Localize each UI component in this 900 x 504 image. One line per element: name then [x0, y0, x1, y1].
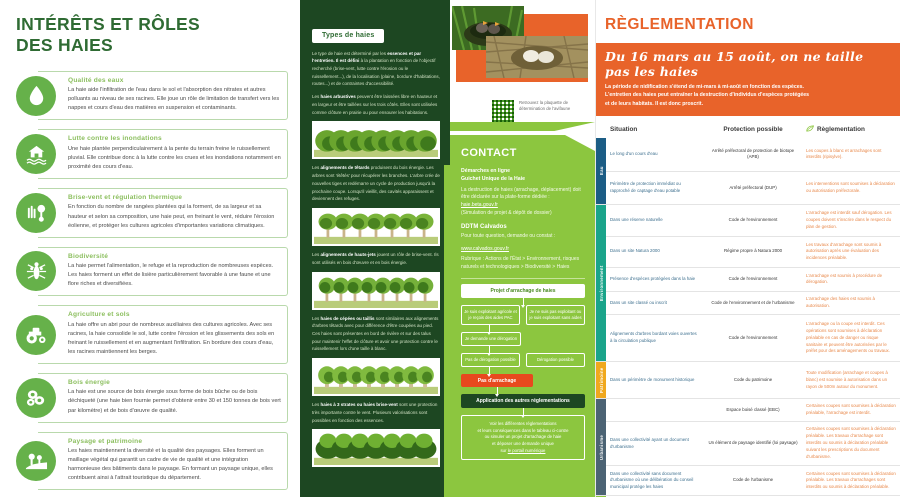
flow-branch-right: Je ne suis pas exploitant ou je suis exp…: [526, 305, 585, 325]
cell-protection: Code de l'environnement et de l'urbanism…: [704, 291, 802, 315]
category-label: Eau: [599, 141, 610, 201]
benefit-heading: Lutte contre les inondations: [68, 135, 281, 142]
benefit-card-7: Paysage et patrimoineLes haies maintienn…: [38, 432, 288, 491]
hedge-types-list: Les haies arbustives peuvent être laissé…: [312, 93, 440, 467]
table-row: Périmètre de protection immédiat ou rapp…: [595, 171, 900, 205]
flow-arrow-4: [489, 367, 490, 374]
banner-subtext: La période de nidification s'étend de mi…: [605, 83, 890, 108]
cell-reglementation: Les coupes à blanc et arrachages sont in…: [802, 138, 900, 171]
cell-situation: Dans un périmètre de monument historique: [606, 362, 704, 399]
hedge-type-text-4: Les haies de cépées ou taillis sont simi…: [312, 315, 440, 354]
cell-protection: Code de l'environnement: [704, 205, 802, 236]
types-de-haies-badge: Types de haies: [312, 29, 384, 43]
footer-bar: [0, 497, 900, 504]
benefit-card-1: Qualité des eauxLa haie aide l'infiltrat…: [38, 71, 288, 121]
cell-protection: Code de l'urbanisme: [704, 466, 802, 496]
benefit-heading: Agriculture et sols: [68, 311, 281, 318]
hedge-type-text-3: Les alignements de hauts-jets jouent un …: [312, 251, 440, 266]
benefit-card-body: Agriculture et solsLa haie offre un abri…: [38, 305, 288, 364]
benefit-heading: Brise-vent et régulation thermique: [68, 194, 281, 201]
benefit-card-body: Qualité des eauxLa haie aide l'infiltrat…: [38, 71, 288, 121]
table-row: UrbanismeEspace boisé classé (EBC)Certai…: [595, 399, 900, 421]
table-row: Dans une collectivité ayant un document …: [595, 421, 900, 466]
ddtm-link[interactable]: www.calvados.gouv.fr: [461, 246, 509, 252]
benefit-text: Les haies maintiennent la diversité et l…: [68, 447, 281, 483]
right-section: Retrouvez la plaquette de détermination …: [450, 0, 900, 504]
ddtm-path: Rubrique : Actions de l'État > Environne…: [461, 256, 585, 272]
infographic-page: INTÉRÊTS ET RÔLES DES HAIES Qualité des …: [0, 0, 900, 504]
contact-online-label-2: Guichet Unique de la Haie: [461, 176, 585, 184]
cell-situation: Dans une collectivité sans document d'ur…: [606, 466, 704, 496]
category-label: Environnement: [599, 208, 610, 358]
th-protection: Protection possible: [704, 121, 802, 138]
hedge-shrub-photo: [312, 121, 440, 159]
biodiversity-insect-icon: [16, 251, 56, 291]
contact-column: Retrouvez la plaquette de détermination …: [450, 0, 595, 504]
landscape-heritage-icon: [16, 441, 56, 481]
flow-stop-box: Pas d'arrachage: [461, 374, 533, 387]
cell-reglementation: Les interventions sont soumises à déclar…: [802, 171, 900, 205]
eggs-in-nest-illustration: [486, 36, 588, 78]
cell-protection: Espace boisé classé (EBC): [704, 399, 802, 421]
cell-reglementation: L'arrachage est soumis à procédure de dé…: [802, 268, 900, 292]
ddtm-sub: Pour toute question, demande ou constat …: [461, 233, 585, 241]
cell-situation: Alignements d'arbres bordant voies ouver…: [606, 315, 704, 362]
table-row: EnvironnementDans une réserve naturelleC…: [595, 205, 900, 236]
category-band-urbanisme: Urbanisme: [595, 399, 606, 496]
cell-protection: Code du patrimoine: [704, 362, 802, 399]
category-band-eau: Eau: [595, 138, 606, 205]
regulation-table-body: EauLe long d'un cours d'eauArrêté préfec…: [595, 138, 900, 504]
leaf-icon: [806, 125, 815, 132]
benefit-card-body: Paysage et patrimoineLes haies maintienn…: [38, 432, 288, 491]
table-row: Alignements d'arbres bordant voies ouver…: [595, 315, 900, 362]
contact-divider: [461, 278, 585, 279]
qr-code-icon[interactable]: [492, 100, 514, 122]
green-chevron-divider: [450, 122, 595, 135]
th-situation: Situation: [606, 121, 704, 138]
water-drop-icon: [16, 76, 56, 116]
cell-situation: Dans une réserve naturelle: [606, 205, 704, 236]
flow-arrow-3: [489, 346, 490, 353]
table-row: EauLe long d'un cours d'eauArrêté préfec…: [595, 138, 900, 171]
table-row: Dans une collectivité sans document d'ur…: [595, 466, 900, 496]
flood-house-icon: [16, 134, 56, 174]
nest-with-eggs-photo: [486, 36, 588, 78]
category-label: Patrimoine: [599, 365, 610, 395]
qr-code-row: Retrouvez la plaquette de détermination …: [450, 95, 595, 122]
table-row: Dans un site classé ou inscritCode de l'…: [595, 291, 900, 315]
regulation-column: RÈGLEMENTATION Du 16 mars au 15 août, on…: [595, 0, 900, 504]
flow-start: Projet d'arrachage de haies: [461, 284, 585, 298]
windbreak-thermometer-icon: [16, 193, 56, 233]
cell-reglementation: L'arrachage des haies est soumis à autor…: [802, 291, 900, 315]
benefit-card-5: Agriculture et solsLa haie offre un abri…: [38, 305, 288, 364]
nesting-period-banner: Du 16 mars au 15 août, on ne taille pas …: [595, 43, 900, 116]
hedge-type-text-1: Les haies arbustives peuvent être laissé…: [312, 93, 440, 116]
contact-online-text: La destruction de haies (arrachage, dépl…: [461, 187, 585, 219]
ddtm-title: DDTM Calvados: [461, 223, 585, 232]
flow-step2: Je demande une dérogation: [461, 332, 521, 346]
guichet-link[interactable]: haie.beta.gouv.fr: [461, 202, 498, 208]
benefit-text: La haie est une source de bois énergie s…: [68, 388, 281, 415]
contact-title: CONTACT: [461, 147, 585, 159]
benefit-card-body: Brise-vent et régulation thermiqueEn fon…: [38, 188, 288, 238]
left-panel-interets-roles: INTÉRÊTS ET RÔLES DES HAIES Qualité des …: [0, 0, 300, 504]
cell-situation: Périmètre de protection immédiat ou rapp…: [606, 171, 704, 205]
flow-arrow-5: [497, 387, 498, 394]
benefit-card-body: Lutte contre les inondationsUne haie pla…: [38, 129, 288, 179]
portail-numerique-link[interactable]: le portail numérique: [508, 448, 546, 453]
benefit-text: En fonction du nombre de rangées plantée…: [68, 203, 281, 230]
middle-panel-types-de-haies: Types de haies Le type de haie est déter…: [300, 0, 450, 504]
benefit-text: La haie aide l'infiltration de l'eau dan…: [68, 86, 281, 113]
cell-reglementation: L'arrachage ou la coupe est interdit. Ce…: [802, 315, 900, 362]
benefit-card-3: Brise-vent et régulation thermiqueEn fon…: [38, 188, 288, 238]
flow-result-row: Pas de dérogation possible Dérogation po…: [461, 353, 585, 367]
table-row: Dans un site Natura 2000Régime propre à …: [595, 236, 900, 267]
cell-reglementation: Certaines coupes sont soumises à déclara…: [802, 466, 900, 496]
qr-code-caption: Retrouvez la plaquette de détermination …: [519, 100, 595, 113]
hedge-type-text-5: Les haies à 3 strates ou haies brise-ven…: [312, 401, 440, 424]
benefit-heading: Bois énergie: [68, 379, 281, 386]
cell-reglementation: L'arrachage est interdit sauf dérogation…: [802, 205, 900, 236]
table-header-row: Situation Protection possible Règlementa…: [595, 121, 900, 138]
benefit-heading: Paysage et patrimoine: [68, 438, 281, 445]
cell-situation: Dans un site classé ou inscrit: [606, 291, 704, 315]
benefit-card-6: Bois énergieLa haie est une source de bo…: [38, 373, 288, 423]
category-band-environnement: Environnement: [595, 205, 606, 362]
benefit-card-body: BiodiversitéLa haie permet l'alimentatio…: [38, 247, 288, 297]
flow-footer-box: Voir les différentes réglementations et …: [461, 415, 585, 460]
cell-protection: Un élément de paysage identifié (loi pay…: [704, 421, 802, 466]
nest-photos-block: [450, 0, 595, 95]
benefit-text: Une haie plantée perpendiculairement à l…: [68, 145, 281, 172]
benefit-card-4: BiodiversitéLa haie permet l'alimentatio…: [38, 247, 288, 297]
coppice-hedge-photo: [312, 358, 440, 396]
benefits-list: Qualité des eauxLa haie aide l'infiltrat…: [16, 71, 288, 491]
flow-apply-box: Application des autres réglementations: [461, 394, 585, 408]
page-title: INTÉRÊTS ET RÔLES DES HAIES: [16, 14, 288, 57]
hedge-type-text-2: Les alignements de têtards produisent du…: [312, 164, 440, 203]
table-row: PatrimoineDans un périmètre de monument …: [595, 362, 900, 399]
column-divider: [595, 0, 596, 504]
contact-body: CONTACT Démarches en ligne Guichet Uniqu…: [450, 135, 595, 504]
flow-result-right: Dérogation possible: [526, 353, 585, 367]
flow-arrow-1: [523, 298, 524, 305]
tractor-icon: [16, 315, 56, 355]
flow-arrow-2: [489, 325, 490, 332]
cell-reglementation: Toute modification (arrachage et coupes …: [802, 362, 900, 399]
cell-protection: Arrêté préfectoral (DUP): [704, 171, 802, 205]
standard-trees-photo: [312, 272, 440, 310]
flow-branch-row: Je suis exploitant agricole et je reçois…: [461, 305, 585, 325]
flow-arrow-6: [523, 408, 524, 415]
benefit-heading: Qualité des eaux: [68, 77, 281, 84]
cell-situation: Dans un site Natura 2000: [606, 236, 704, 267]
cell-situation: Le long d'un cours d'eau: [606, 138, 704, 171]
regulation-table: Situation Protection possible Règlementa…: [595, 121, 900, 504]
cell-protection: Régime propre à Natura 2000: [704, 236, 802, 267]
banner-headline: Du 16 mars au 15 août, on ne taille pas …: [605, 49, 890, 79]
benefit-heading: Biodiversité: [68, 253, 281, 260]
table-row: Présence d'espèces protégées dans la hai…: [595, 268, 900, 292]
cell-reglementation: Certaines coupes sont soumises à déclara…: [802, 399, 900, 421]
cell-situation: Dans une collectivité ayant un document …: [606, 421, 704, 466]
cell-protection: Code de l'environnement: [704, 315, 802, 362]
cell-reglementation: Les travaux d'arrachage sont soumis à au…: [802, 236, 900, 267]
cell-situation: [606, 399, 704, 421]
th-category: [595, 121, 606, 138]
cell-situation: Présence d'espèces protégées dans la hai…: [606, 268, 704, 292]
regulation-title: RÈGLEMENTATION: [595, 0, 900, 43]
cell-protection: Arrêté préfectoral de protection de biot…: [704, 138, 802, 171]
th-reglementation: Règlementation: [802, 121, 900, 138]
cell-protection: Code de l'environnement: [704, 268, 802, 292]
benefit-card-2: Lutte contre les inondationsUne haie pla…: [38, 129, 288, 179]
benefit-text: La haie offre un abri pour de nombreux a…: [68, 321, 281, 357]
benefit-card-body: Bois énergieLa haie est une source de bo…: [38, 373, 288, 423]
firewood-logs-icon: [16, 378, 56, 418]
flow-branch-left: Je suis exploitant agricole et je reçois…: [461, 305, 520, 325]
pollard-trees-photo: [312, 208, 440, 246]
benefit-text: La haie permet l'alimentation, le refuge…: [68, 262, 281, 289]
three-layer-hedge-photo: [312, 429, 440, 467]
contact-online-label-1: Démarches en ligne: [461, 168, 585, 176]
category-band-patrimoine: Patrimoine: [595, 362, 606, 399]
category-label: Urbanisme: [599, 402, 610, 492]
types-intro: Le type de haie est déterminé par les es…: [312, 50, 440, 89]
cell-reglementation: Certaines coupes sont soumises à déclara…: [802, 421, 900, 466]
ddtm-link-wrap: www.calvados.gouv.fr: [461, 246, 585, 254]
